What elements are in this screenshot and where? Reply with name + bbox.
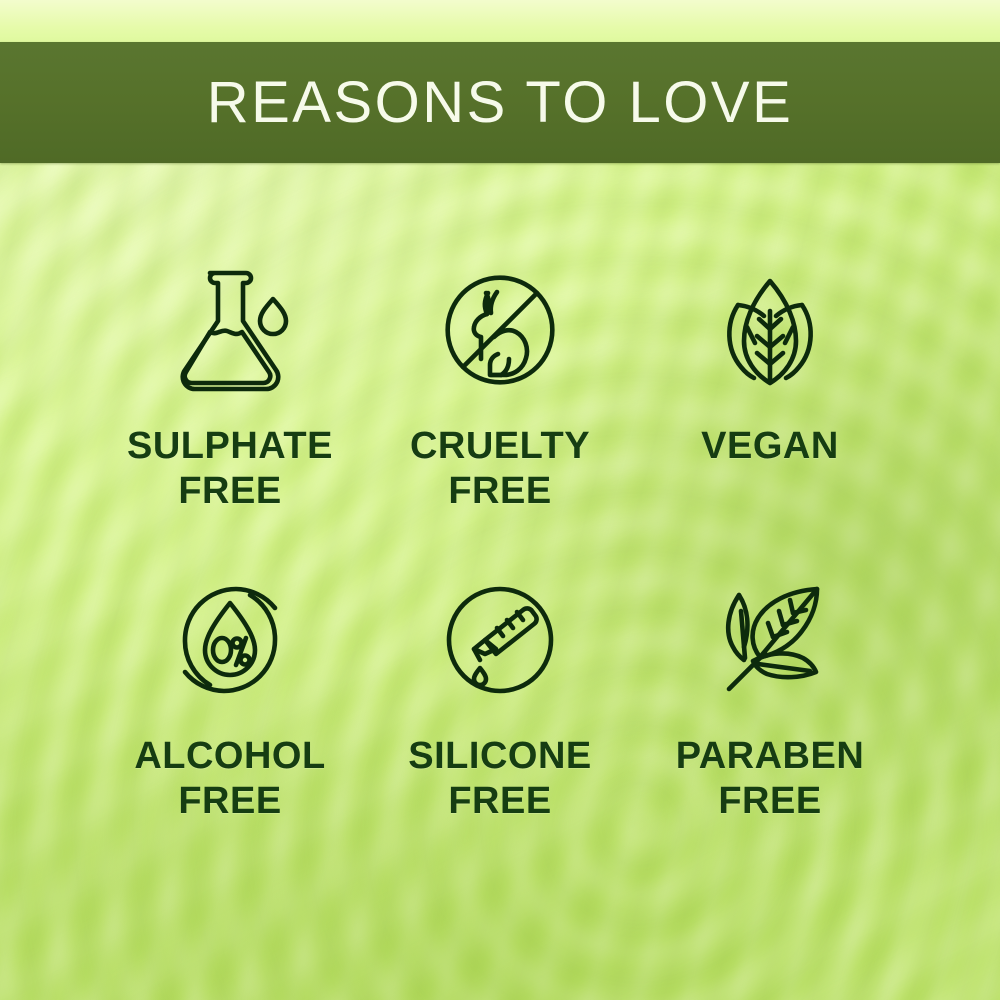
- flask-droplet-icon: [155, 250, 305, 410]
- three-leaves-icon: [695, 250, 845, 410]
- page-title: REASONS TO LOVE: [207, 74, 794, 132]
- no-animal-testing-icon: [425, 250, 575, 410]
- feature-item-vegan: VEGAN: [635, 250, 905, 550]
- zero-percent-droplet-icon: [155, 560, 305, 720]
- feature-label-line2: FREE: [127, 469, 333, 514]
- feature-label: SILICONE FREE: [408, 734, 591, 824]
- feature-label-line2: FREE: [134, 779, 325, 824]
- feature-label-line1: PARABEN: [676, 735, 865, 777]
- poster-root: REASONS TO LOVE SULPHATE FREE: [0, 0, 1000, 1000]
- feature-label-line1: ALCOHOL: [134, 735, 325, 777]
- feature-label-line1: SILICONE: [408, 735, 591, 777]
- feature-label: VEGAN: [701, 424, 839, 469]
- feature-item-alcohol-free: ALCOHOL FREE: [95, 560, 365, 860]
- leaf-branch-icon: [695, 560, 845, 720]
- dropper-pipette-icon: [425, 560, 575, 720]
- feature-label: ALCOHOL FREE: [134, 734, 325, 824]
- feature-label-line2: FREE: [408, 779, 591, 824]
- feature-label: CRUELTY FREE: [410, 424, 590, 514]
- feature-label: PARABEN FREE: [676, 734, 865, 824]
- feature-label-line2: FREE: [410, 469, 590, 514]
- header-banner: REASONS TO LOVE: [0, 42, 1000, 163]
- feature-item-paraben-free: PARABEN FREE: [635, 560, 905, 860]
- feature-label-line1: SULPHATE: [127, 425, 333, 467]
- feature-item-sulphate-free: SULPHATE FREE: [95, 250, 365, 550]
- feature-label: SULPHATE FREE: [127, 424, 333, 514]
- feature-label-line1: CRUELTY: [410, 425, 590, 467]
- feature-item-cruelty-free: CRUELTY FREE: [365, 250, 635, 550]
- features-grid: SULPHATE FREE CRUELTY FREE: [95, 250, 905, 860]
- feature-item-silicone-free: SILICONE FREE: [365, 560, 635, 860]
- feature-label-line1: VEGAN: [701, 425, 839, 467]
- background-top-glow: [0, 0, 1000, 46]
- feature-label-line2: FREE: [676, 779, 865, 824]
